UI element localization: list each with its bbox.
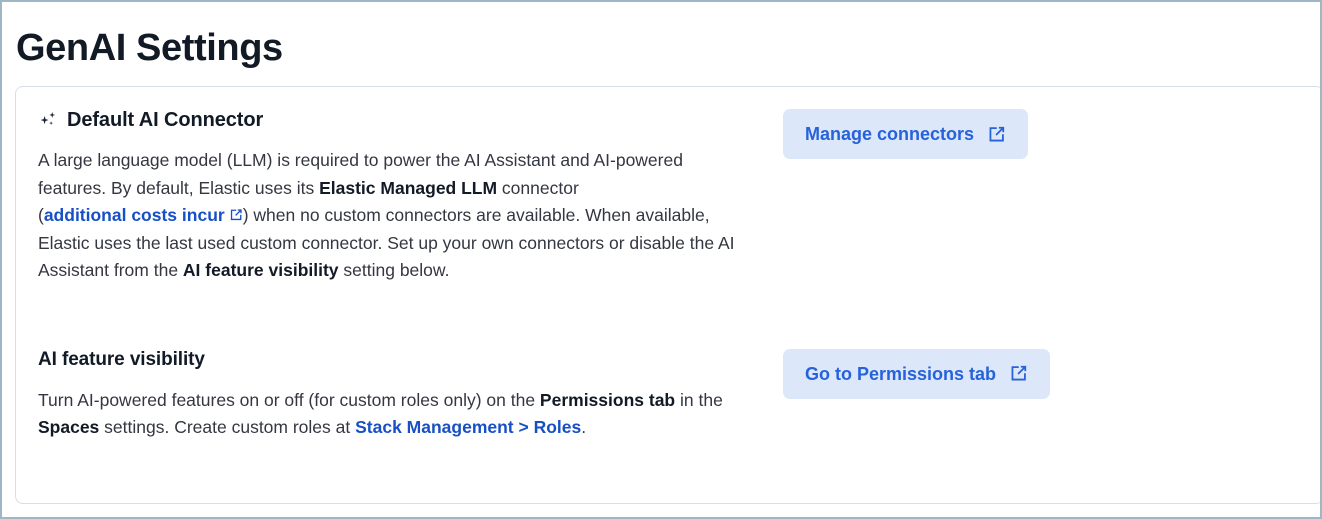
- external-link-icon: [1009, 364, 1028, 383]
- desc-strong-elastic-managed-llm: Elastic Managed LLM: [319, 178, 497, 198]
- additional-costs-incur-link-label: additional costs incur: [44, 205, 225, 225]
- external-link-icon: [229, 208, 243, 222]
- external-link-icon: [987, 125, 1006, 144]
- section-ai-feature-visibility-action: Go to Permissions tab: [783, 347, 1050, 399]
- page-title: GenAI Settings: [16, 25, 283, 71]
- section-divider-spacer: [38, 285, 1322, 347]
- section-default-ai-connector: Default AI Connector A large language mo…: [38, 107, 1322, 285]
- stack-management-roles-link[interactable]: Stack Management > Roles: [355, 417, 581, 437]
- manage-connectors-button[interactable]: Manage connectors: [783, 109, 1028, 159]
- visibility-part-1: Turn AI-powered features on or off (for …: [38, 390, 540, 410]
- visibility-part-3: settings. Create custom roles at: [99, 417, 355, 437]
- visibility-part-4: .: [581, 417, 586, 437]
- settings-panel: Default AI Connector A large language mo…: [15, 86, 1322, 504]
- section-default-ai-connector-action: Manage connectors: [783, 107, 1028, 159]
- ai-feature-visibility-description: Turn AI-powered features on or off (for …: [38, 387, 764, 442]
- desc-part-4: setting below.: [339, 260, 450, 280]
- sparkles-icon: [38, 110, 58, 130]
- go-to-permissions-tab-button-label: Go to Permissions tab: [805, 363, 996, 385]
- section-heading-default-ai-connector: Default AI Connector: [38, 107, 783, 133]
- visibility-strong-spaces: Spaces: [38, 417, 99, 437]
- desc-strong-ai-feature-visibility: AI feature visibility: [183, 260, 339, 280]
- manage-connectors-button-label: Manage connectors: [805, 123, 974, 145]
- section-heading-ai-feature-visibility: AI feature visibility: [38, 347, 783, 373]
- genai-settings-page: GenAI Settings Default AI Connect: [0, 0, 1322, 519]
- additional-costs-incur-link[interactable]: additional costs incur: [44, 205, 243, 225]
- section-heading-label: Default AI Connector: [67, 107, 263, 133]
- go-to-permissions-tab-button[interactable]: Go to Permissions tab: [783, 349, 1050, 399]
- page-header: GenAI Settings: [2, 2, 1320, 86]
- visibility-part-2: in the: [675, 390, 723, 410]
- section-ai-feature-visibility: AI feature visibility Turn AI-powered fe…: [38, 347, 1322, 442]
- default-ai-connector-description: A large language model (LLM) is required…: [38, 147, 750, 285]
- section-default-ai-connector-content: Default AI Connector A large language mo…: [38, 107, 783, 285]
- section-ai-feature-visibility-content: AI feature visibility Turn AI-powered fe…: [38, 347, 783, 442]
- visibility-strong-permissions-tab: Permissions tab: [540, 390, 675, 410]
